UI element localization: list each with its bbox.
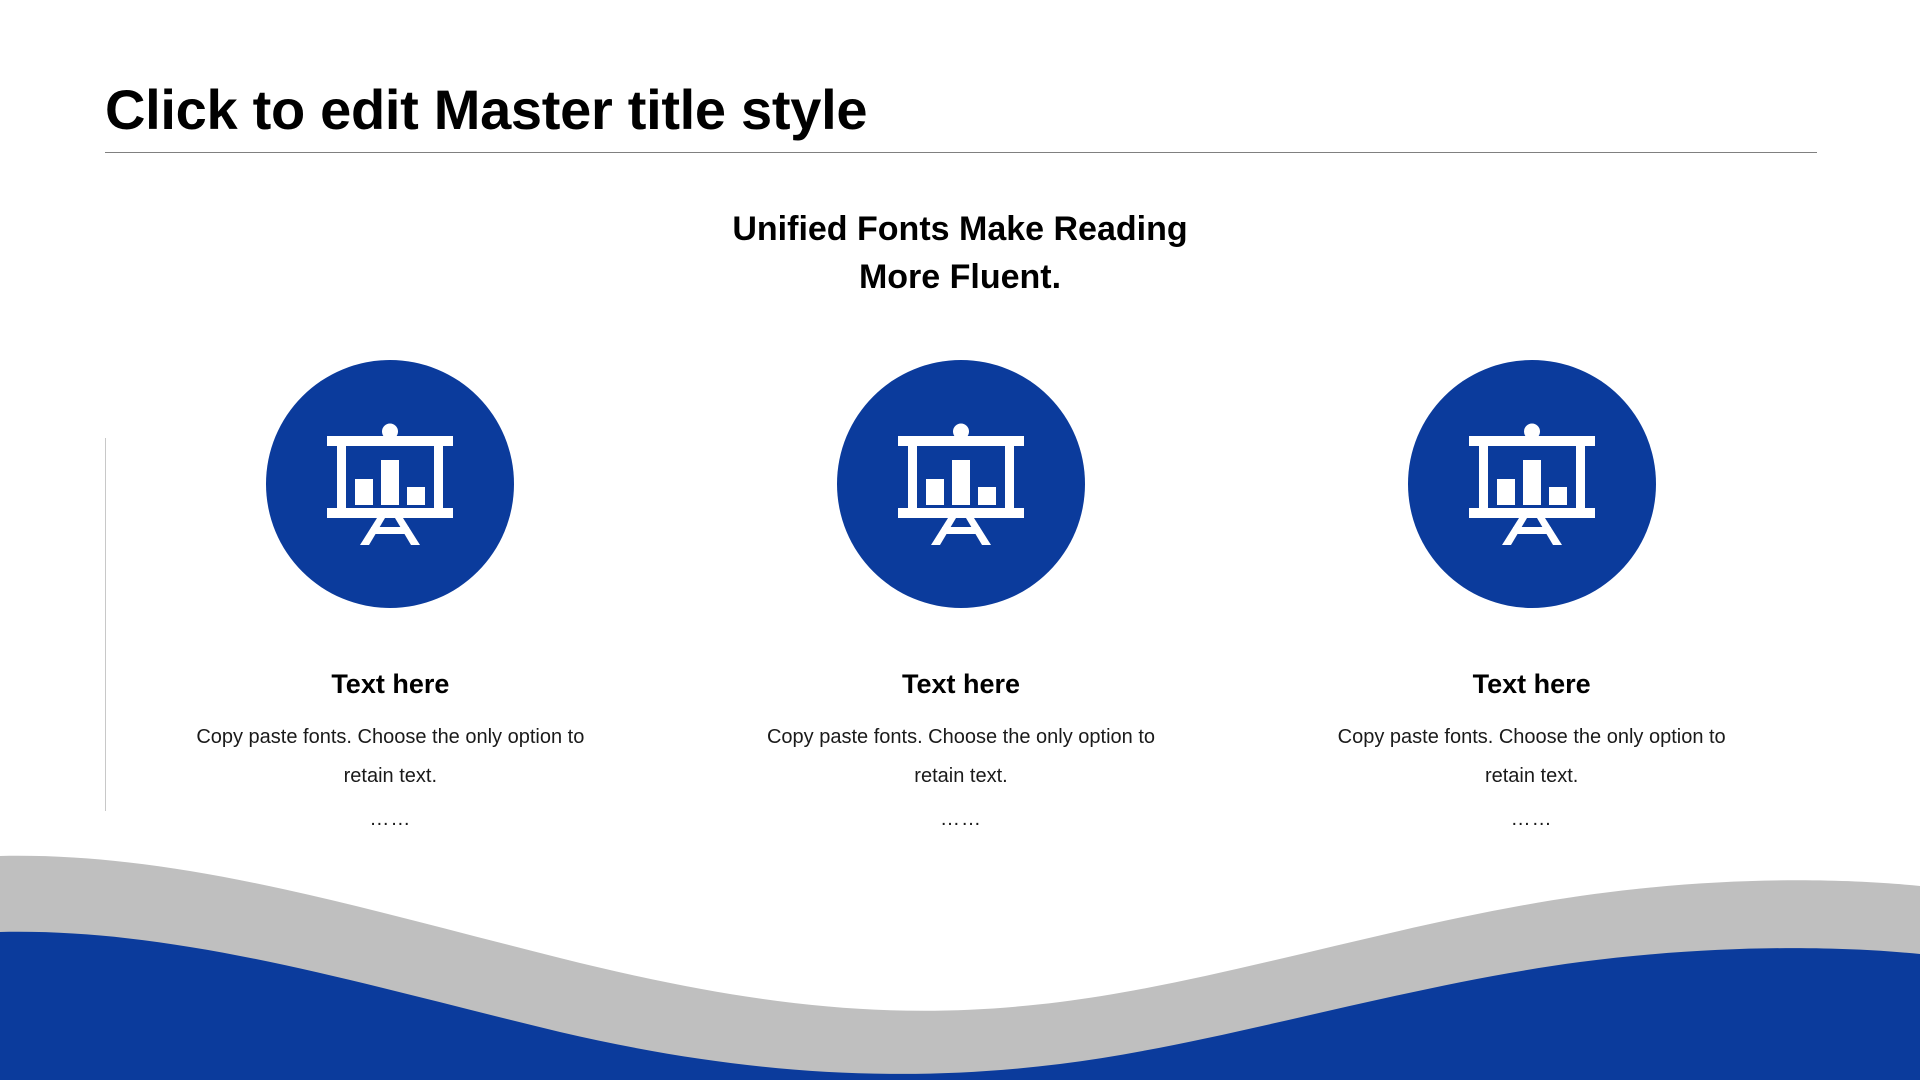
column-dots-3: …… [1511, 804, 1553, 834]
column-body-3: Copy paste fonts. Choose the only option… [1317, 718, 1747, 796]
icon-circle-1[interactable] [266, 360, 514, 608]
page-title[interactable]: Click to edit Master title style [105, 78, 1817, 142]
feature-columns: Text here Copy paste fonts. Choose the o… [105, 360, 1817, 834]
subtitle-line-1: Unified Fonts Make Reading [0, 205, 1920, 253]
title-block: Click to edit Master title style [105, 78, 1817, 153]
icon-circle-3[interactable] [1408, 360, 1656, 608]
column-heading-2: Text here [902, 668, 1020, 700]
feature-column-1[interactable]: Text here Copy paste fonts. Choose the o… [105, 360, 676, 834]
subtitle-text[interactable]: Unified Fonts Make Reading More Fluent. [0, 205, 1920, 301]
icon-circle-2[interactable] [837, 360, 1085, 608]
column-heading-1: Text here [331, 668, 449, 700]
slide-canvas: Click to edit Master title style Unified… [0, 0, 1920, 1080]
column-dots-1: …… [369, 804, 411, 834]
title-underline-rule [105, 152, 1817, 153]
presentation-board-chart-icon [327, 423, 453, 545]
bottom-wave-decoration [0, 850, 1920, 1080]
presentation-board-chart-icon [1469, 423, 1595, 545]
subtitle-line-2: More Fluent. [0, 253, 1920, 301]
column-body-2: Copy paste fonts. Choose the only option… [746, 718, 1176, 796]
presentation-board-chart-icon [898, 423, 1024, 545]
feature-column-2[interactable]: Text here Copy paste fonts. Choose the o… [676, 360, 1247, 834]
column-body-1: Copy paste fonts. Choose the only option… [175, 718, 605, 796]
column-dots-2: …… [940, 804, 982, 834]
feature-column-3[interactable]: Text here Copy paste fonts. Choose the o… [1246, 360, 1817, 834]
column-heading-3: Text here [1473, 668, 1591, 700]
column-divider-2 [105, 438, 106, 811]
